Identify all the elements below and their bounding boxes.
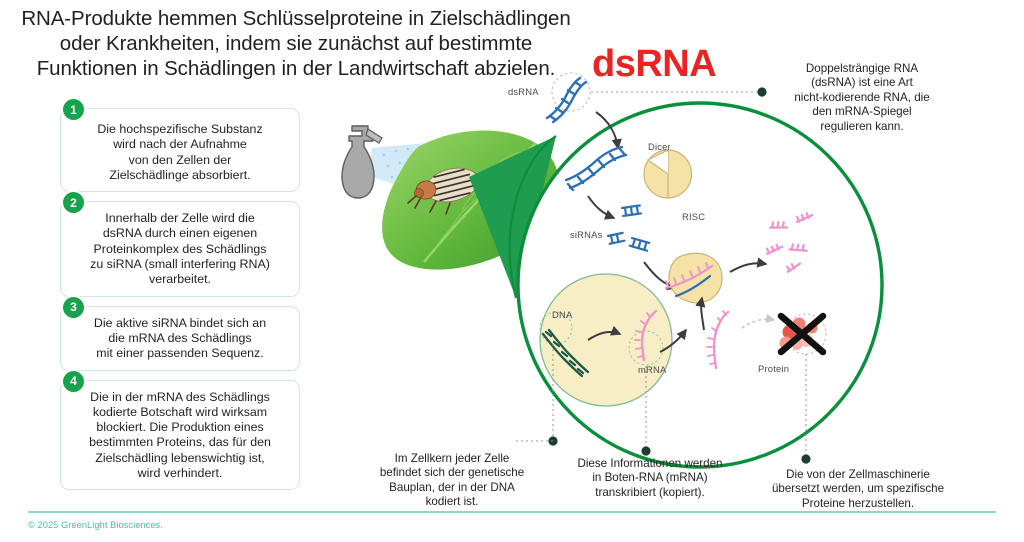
step-item-2: 2 Innerhalb der Zelle wird die dsRNA dur… — [60, 201, 300, 296]
step-text-1: Die hochspezifische Substanz wird nach d… — [60, 108, 300, 192]
steps-list: 1 Die hochspezifische Substanz wird nach… — [60, 108, 300, 499]
annotation-dna: Im Zellkern jeder Zelle befindet sich de… — [352, 452, 552, 510]
step-item-3: 3 Die aktive siRNA bindet sich an die mR… — [60, 306, 300, 371]
sirna-fragments-icon — [608, 205, 649, 250]
label-dsrna-outside: dsRNA — [508, 86, 539, 97]
ann-dna-line-1: Im Zellkern jeder Zelle — [352, 452, 552, 466]
leaf-icon — [382, 130, 559, 269]
annotation-mrna: Diese Informationen werden in Boten-RNA … — [552, 457, 748, 500]
mrna-nucleus-icon — [635, 311, 656, 360]
spray-cone-icon — [368, 142, 438, 196]
step-2-line-2: dsRNA durch einen eigenen — [69, 226, 291, 241]
label-sirnas: siRNAs — [570, 229, 602, 240]
step-1-line-2: wird nach der Aufnahme — [69, 137, 291, 152]
dicer-icon — [644, 150, 692, 198]
label-protein: Protein — [758, 363, 789, 374]
step-4-line-2: kodierte Botschaft wird wirksam — [69, 405, 291, 420]
degraded-mrna-icon — [766, 212, 813, 271]
ann-dsrna-line-1: Doppelsträngige RNA — [758, 62, 966, 76]
ann-dsrna-line-3: nicht-kodierende RNA, die — [758, 91, 966, 105]
mrna-cytoplasm-icon — [707, 311, 728, 368]
step-item-1: 1 Die hochspezifische Substanz wird nach… — [60, 108, 300, 192]
cross-out-icon — [781, 316, 823, 352]
ann-dna-line-4: kodiert ist. — [352, 495, 552, 509]
step-3-line-2: die mRNA des Schädlings — [69, 331, 291, 346]
annotation-dsrna: Doppelsträngige RNA (dsRNA) ist eine Art… — [758, 62, 966, 134]
dna-nucleus-icon — [543, 330, 588, 376]
step-text-2: Innerhalb der Zelle wird die dsRNA durch… — [60, 201, 300, 296]
step-2-line-1: Innerhalb der Zelle wird die — [69, 211, 291, 226]
risc-icon — [666, 253, 722, 303]
label-risc: RISC — [682, 211, 705, 222]
infographic-canvas: RNA-Produkte hemmen Schlüsselproteine in… — [0, 0, 1024, 542]
step-4-line-6: wird verhindert. — [69, 466, 291, 481]
ann-dna-line-2: befindet sich der genetische — [352, 466, 552, 480]
step-3-line-3: mit einer passenden Sequenz. — [69, 346, 291, 361]
step-3-line-1: Die aktive siRNA bindet sich an — [69, 316, 291, 331]
ann-mrna-line-3: transkribiert (kopiert). — [552, 486, 748, 500]
nucleus-group — [540, 274, 686, 406]
step-1-line-4: Zielschädlinge absorbiert. — [69, 168, 291, 183]
step-number-badge-4: 4 — [63, 371, 84, 392]
ann-dsrna-line-4: den mRNA-Spiegel — [758, 105, 966, 119]
label-mrna: mRNA — [638, 364, 666, 375]
step-number-badge-3: 3 — [63, 297, 84, 318]
step-text-3: Die aktive siRNA bindet sich an die mRNA… — [60, 306, 300, 371]
annotation-protein: Die von der Zellmaschinerie übersetzt we… — [748, 468, 968, 511]
step-4-line-3: blockiert. Die Produktion eines — [69, 420, 291, 435]
headline-line-2: oder Krankheiten, indem sie zunächst auf… — [6, 31, 586, 56]
cell-membrane-circle — [518, 103, 882, 467]
ann-mrna-line-2: in Boten-RNA (mRNA) — [552, 471, 748, 485]
ann-dsrna-line-2: (dsRNA) ist eine Art — [758, 76, 966, 90]
step-4-line-1: Die in der mRNA des Schädlings — [69, 390, 291, 405]
footer-divider — [28, 511, 996, 513]
ann-dna-line-3: Bauplan, der in der DNA — [352, 481, 552, 495]
beetle-icon — [408, 163, 482, 214]
step-2-line-3: Proteinkomplex des Schädlings — [69, 242, 291, 257]
step-2-line-5: verarbeitet. — [69, 272, 291, 287]
headline-line-3: Funktionen in Schädlingen in der Landwir… — [6, 56, 586, 81]
footer-copyright: © 2025 GreenLight Biosciences. — [28, 520, 163, 530]
label-dna: DNA — [552, 309, 572, 320]
step-2-line-4: zu siRNA (small interfering RNA) — [69, 257, 291, 272]
ann-mrna-line-1: Diese Informationen werden — [552, 457, 748, 471]
step-4-line-5: Zielschädling lebenswichtig ist, — [69, 451, 291, 466]
dna-helix-icon — [547, 78, 586, 122]
step-number-badge-1: 1 — [63, 99, 84, 120]
step-text-4: Die in der mRNA des Schädlings kodierte … — [60, 380, 300, 491]
spray-droplets-icon — [383, 146, 430, 179]
dsrna-inside-icon — [566, 147, 626, 190]
leaf-illustration — [342, 126, 559, 298]
ann-dsrna-line-5: regulieren kann. — [758, 120, 966, 134]
spray-bottle-icon — [342, 126, 382, 198]
label-dicer: Dicer — [648, 141, 671, 152]
protein-blocked-icon — [780, 314, 827, 354]
zoom-cone-icon — [469, 136, 556, 298]
ann-protein-line-2: übersetzt werden, um spezifische — [748, 482, 968, 496]
step-1-line-1: Die hochspezifische Substanz — [69, 122, 291, 137]
step-1-line-3: von den Zellen der — [69, 153, 291, 168]
ann-protein-line-1: Die von der Zellmaschinerie — [748, 468, 968, 482]
dsrna-heading: dsRNA — [592, 44, 716, 84]
step-item-4: 4 Die in der mRNA des Schädlings kodiert… — [60, 380, 300, 491]
bottom-connectors — [553, 344, 806, 458]
headline-line-1: RNA-Produkte hemmen Schlüsselproteine in… — [6, 6, 586, 31]
page-title: RNA-Produkte hemmen Schlüsselproteine in… — [6, 6, 586, 81]
ann-protein-line-3: Proteine herzustellen. — [748, 497, 968, 511]
step-4-line-4: bestimmten Proteins, das für den — [69, 435, 291, 450]
